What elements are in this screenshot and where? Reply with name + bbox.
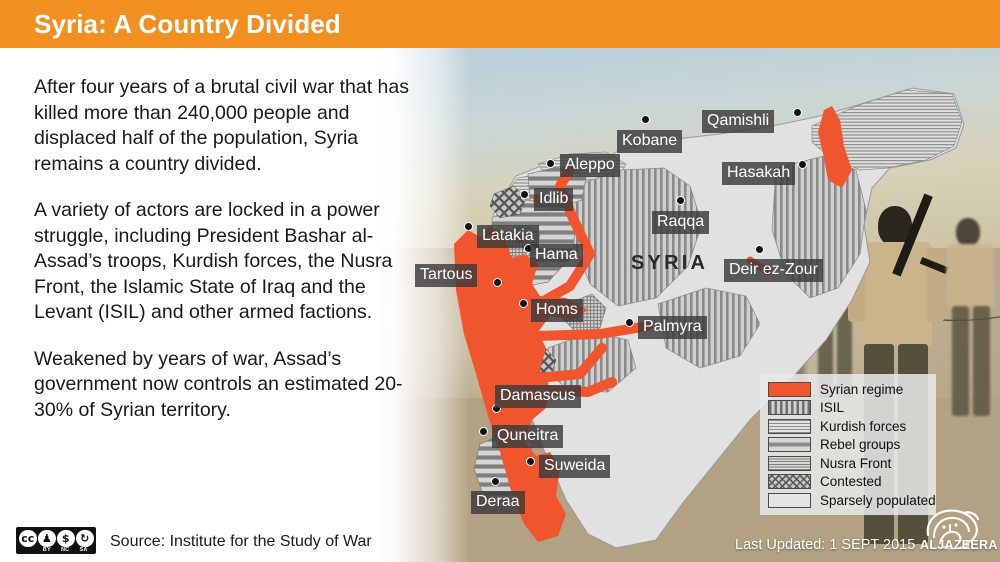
map-legend: Syrian regime ISIL Kurdish forces Rebel … [760, 374, 936, 515]
legend-swatch-isil [768, 400, 811, 415]
legend-label: Syrian regime [820, 382, 903, 397]
legend-swatch-sparsely-populated [768, 493, 811, 508]
paragraph-2: A variety of actors are locked in a powe… [34, 198, 426, 326]
city-dot [464, 222, 473, 231]
legend-item-nusra-front: Nusra Front [768, 454, 928, 473]
article-copy: After four years of a brutal civil war t… [34, 75, 426, 423]
legend-label: Rebel groups [820, 437, 900, 452]
city-label: Deraa [471, 491, 525, 514]
cc-label [20, 547, 37, 553]
city-label: Deir ez-Zour [724, 259, 823, 282]
cc-icon-row: cc ♟ $ ↻ [19, 530, 94, 548]
cc-label-nc: NC [57, 547, 74, 553]
city-dot [479, 427, 488, 436]
paragraph-3: Weakened by years of war, Assad’s govern… [34, 347, 426, 424]
cc-icon: cc [19, 530, 37, 548]
city-label: Palmyra [638, 316, 707, 339]
city-label: Homs [531, 299, 583, 322]
city-dot [625, 318, 634, 327]
by-person-icon: ♟ [38, 530, 56, 548]
legend-swatch-syrian-regime [768, 382, 811, 397]
legend-label: ISIL [820, 400, 844, 415]
city-dot [520, 190, 529, 199]
city-label: Kobane [617, 130, 682, 153]
legend-item-rebel-groups: Rebel groups [768, 436, 928, 455]
creative-commons-badge[interactable]: cc ♟ $ ↻ BY NC SA [16, 527, 96, 554]
city-dot [798, 160, 807, 169]
city-label: Qamishli [702, 110, 774, 133]
country-label: SYRIA [631, 252, 708, 275]
legend-item-isil: ISIL [768, 399, 928, 418]
city-dot [493, 278, 502, 287]
page-title: Syria: A Country Divided [34, 9, 341, 40]
legend-swatch-kurdish-forces [768, 419, 811, 434]
city-dot [526, 457, 535, 466]
city-label: Raqqa [652, 211, 709, 234]
city-label: Hasakah [722, 162, 795, 185]
cc-label-by: BY [38, 547, 55, 553]
city-label: Aleppo [560, 154, 620, 177]
legend-swatch-contested [768, 474, 811, 489]
city-dot [491, 477, 500, 486]
city-label: Quneitra [492, 425, 563, 448]
city-dot [519, 299, 528, 308]
legend-item-syrian-regime: Syrian regime [768, 380, 928, 399]
city-dot [641, 115, 650, 124]
legend-label: Kurdish forces [820, 419, 906, 434]
city-dot [546, 159, 555, 168]
source-attribution: Source: Institute for the Study of War [110, 533, 372, 551]
nc-nocommercial-icon: $ [57, 530, 75, 548]
city-dot [755, 245, 764, 254]
legend-item-contested: Contested [768, 473, 928, 492]
sa-sharealike-icon: ↻ [76, 530, 94, 548]
legend-item-sparsely-populated: Sparsely populated [768, 491, 928, 510]
legend-item-kurdish-forces: Kurdish forces [768, 417, 928, 436]
legend-label: Sparsely populated [820, 493, 936, 508]
city-label: Damascus [495, 385, 581, 408]
city-label: Suweida [539, 455, 610, 478]
legend-label: Nusra Front [820, 456, 891, 471]
header-bar: Syria: A Country Divided [0, 0, 1000, 48]
city-dot [793, 108, 802, 117]
cc-label-row: BY NC SA [20, 547, 92, 553]
legend-label: Contested [820, 474, 882, 489]
city-label: Hama [530, 244, 583, 267]
last-updated-text: Last Updated: 1 SEPT 2015 [735, 537, 915, 553]
cc-label-sa: SA [75, 547, 92, 553]
infographic-root: Qamishli Kobane Hasakah Aleppo Raqqa Idl… [0, 0, 1000, 562]
paragraph-1: After four years of a brutal civil war t… [34, 75, 426, 177]
city-label: Idlib [534, 188, 573, 211]
al-jazeera-wordmark: ALJAZEERA [920, 538, 992, 552]
legend-swatch-rebel-groups [768, 437, 811, 452]
legend-swatch-nusra-front [768, 456, 811, 471]
city-dot [676, 196, 685, 205]
